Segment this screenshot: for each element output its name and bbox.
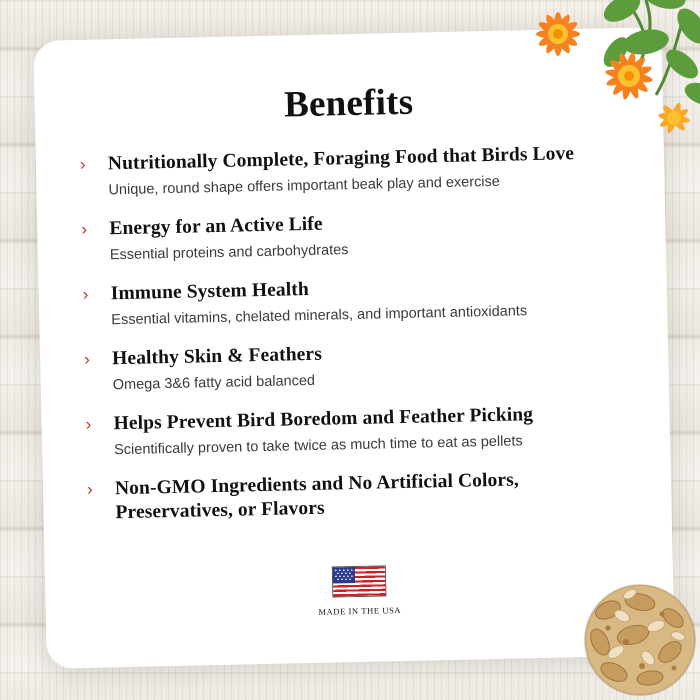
list-item: › Energy for an Active Life Essential pr…: [77, 206, 626, 266]
list-item: › Helps Prevent Bird Boredom and Feather…: [81, 401, 630, 461]
list-item: › Healthy Skin & Feathers Omega 3&6 fatt…: [80, 336, 629, 396]
benefit-heading: Non-GMO Ingredients and No Artificial Co…: [115, 466, 632, 525]
benefits-list: › Nutritionally Complete, Foraging Food …: [76, 141, 632, 526]
chevron-right-icon: ›: [85, 414, 91, 435]
list-item: › Immune System Health Essential vitamin…: [79, 271, 628, 331]
benefits-card: Benefits › Nutritionally Complete, Forag…: [33, 27, 675, 669]
chevron-right-icon: ›: [80, 154, 86, 175]
chevron-right-icon: ›: [81, 219, 87, 240]
chevron-right-icon: ›: [87, 479, 93, 500]
chevron-right-icon: ›: [84, 349, 90, 370]
list-item: › Nutritionally Complete, Foraging Food …: [76, 141, 625, 201]
list-item: › Non-GMO Ingredients and No Artificial …: [83, 466, 632, 526]
made-in-usa-badge: MADE IN THE USA: [45, 559, 674, 623]
page-title: Benefits: [74, 76, 623, 131]
chevron-right-icon: ›: [83, 284, 89, 305]
made-in-usa-caption: MADE IN THE USA: [46, 599, 674, 623]
usa-flag-icon: [332, 565, 387, 597]
